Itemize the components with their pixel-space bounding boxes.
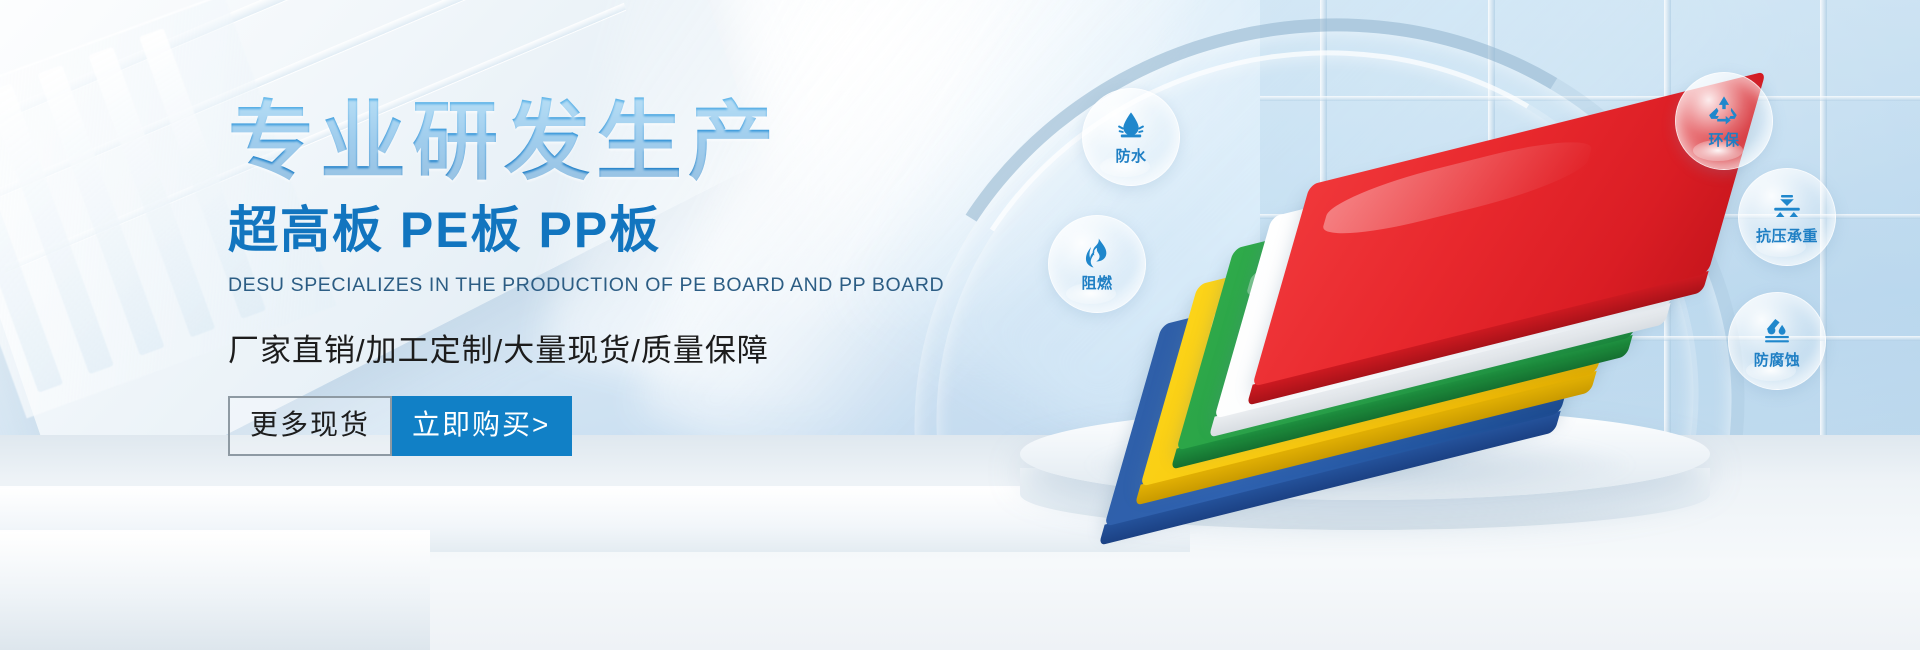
badge-label: 阻燃 xyxy=(1081,272,1112,293)
press-load-icon xyxy=(1770,189,1804,223)
badge-label: 抗压承重 xyxy=(1756,225,1818,246)
badge-label: 环保 xyxy=(1708,129,1739,150)
feature-badge-corrosion-resistant[interactable]: 防腐蚀 xyxy=(1728,292,1826,390)
corrosion-icon xyxy=(1760,313,1794,347)
badge-label: 防水 xyxy=(1115,145,1146,166)
feature-list-line: 厂家直销/加工定制/大量现货/质量保障 xyxy=(228,325,868,370)
product-subtitle: 超高板 PE板 PP板 xyxy=(228,203,868,258)
floor-step-lower xyxy=(0,532,430,650)
feature-badge-load-bearing[interactable]: 抗压承重 xyxy=(1738,168,1836,266)
product-board-stack xyxy=(1140,150,1760,480)
cta-button-group: 更多现货 立即购买> xyxy=(228,396,868,456)
english-tagline: DESU SPECIALIZES IN THE PRODUCTION OF PE… xyxy=(228,274,868,297)
feature-badge-waterproof[interactable]: 防水 xyxy=(1082,88,1180,186)
recycle-icon xyxy=(1707,93,1741,127)
banner-copy: 专业研发生产 超高板 PE板 PP板 DESU SPECIALIZES IN T… xyxy=(228,96,868,456)
buy-now-button[interactable]: 立即购买> xyxy=(392,396,572,456)
badge-label: 防腐蚀 xyxy=(1754,349,1801,370)
feature-badge-flame-retardant[interactable]: 阻燃 xyxy=(1048,215,1146,313)
flame-icon xyxy=(1080,236,1114,270)
promo-banner: 防水 阻燃 环保 xyxy=(0,0,1920,650)
more-stock-button[interactable]: 更多现货 xyxy=(228,396,392,456)
water-drop-icon xyxy=(1114,109,1148,143)
page-title: 专业研发生产 xyxy=(228,96,868,189)
feature-badge-eco[interactable]: 环保 xyxy=(1675,72,1773,170)
